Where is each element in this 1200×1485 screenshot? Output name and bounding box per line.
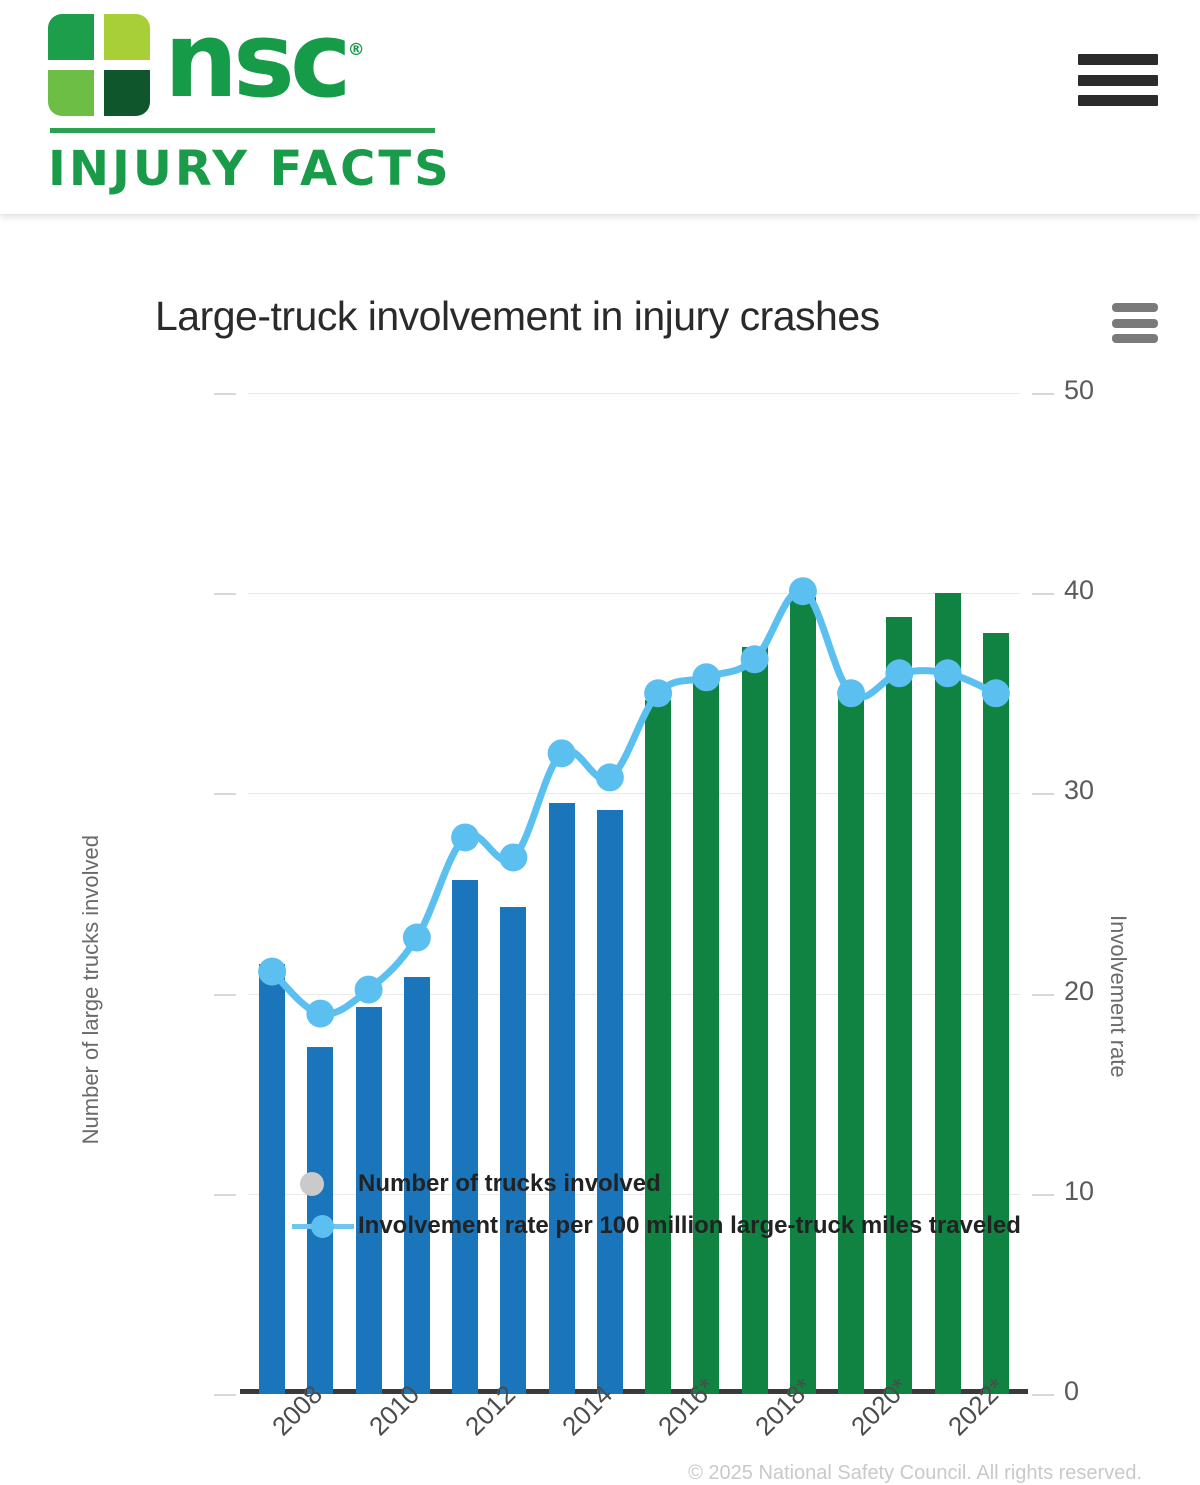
rate-point-2023[interactable]: 2023*: 35 xyxy=(982,679,1010,707)
chart-context-menu-icon[interactable] xyxy=(1112,303,1158,343)
logo-row: nsc® xyxy=(48,8,518,120)
y-axis-right-tick-mark xyxy=(1032,793,1054,795)
rate-point-2014[interactable]: 2014: 32 xyxy=(548,739,576,767)
site-header: nsc® INJURY FACTS xyxy=(0,0,1200,215)
rate-point-2011[interactable]: 2011: 22.8 xyxy=(403,924,431,952)
legend-item-rate[interactable]: Involvement rate per 100 million large-t… xyxy=(292,1205,1021,1247)
rate-point-2012[interactable]: 2012: 27.8 xyxy=(451,823,479,851)
rate-point-2022[interactable]: 2022*: 36 xyxy=(934,659,962,687)
hamburger-bar-1 xyxy=(1078,54,1158,65)
legend-marker-blue-line-icon xyxy=(292,1213,358,1239)
brand-subtitle: INJURY FACTS xyxy=(48,145,518,193)
legend-marker-gray-circle-icon xyxy=(292,1171,358,1197)
logo-square-top-left xyxy=(48,14,94,60)
rate-point-2015[interactable]: 2015: 30.8 xyxy=(596,763,624,791)
y-axis-right-tick: 10 xyxy=(1064,1176,1094,1207)
y-axis-right-tick-mark xyxy=(1032,593,1054,595)
y-axis-left-tick-mark xyxy=(214,994,236,996)
rate-point-2017[interactable]: 2017*: 35.8 xyxy=(692,663,720,691)
rate-point-2008[interactable]: 2008: 21.1 xyxy=(258,958,286,986)
y-axis-right-tick: 30 xyxy=(1064,775,1094,806)
y-axis-left-tick-mark xyxy=(214,793,236,795)
y-axis-left-tick-mark xyxy=(214,593,236,595)
chart-menu-bar-3 xyxy=(1112,334,1158,343)
y-axis-right-tick-mark xyxy=(1032,1194,1054,1196)
chart-title: Large-truck involvement in injury crashe… xyxy=(155,293,880,340)
legend-item-trucks[interactable]: Number of trucks involved xyxy=(292,1163,1021,1205)
brand-divider xyxy=(50,128,435,133)
rate-point-2016[interactable]: 2016*: 35 xyxy=(644,679,672,707)
y-axis-right-tick: 20 xyxy=(1064,976,1094,1007)
legend-label-rate: Involvement rate per 100 million large-t… xyxy=(358,1212,1021,1240)
hamburger-menu-icon[interactable] xyxy=(1078,54,1158,106)
y-axis-right-tick: 40 xyxy=(1064,575,1094,606)
brand-logo[interactable]: nsc® INJURY FACTS xyxy=(48,8,518,193)
copyright-note: © 2025 National Safety Council. All righ… xyxy=(0,1462,1200,1485)
rate-point-2009[interactable]: 2009: 19 xyxy=(306,1000,334,1028)
y-axis-right-tick: 50 xyxy=(1064,375,1094,406)
rate-point-2020[interactable]: 2020*: 35 xyxy=(837,679,865,707)
logo-square-bottom-right xyxy=(104,70,150,116)
rate-point-2021[interactable]: 2021*: 36 xyxy=(885,659,913,687)
nsc-wordmark: nsc® xyxy=(164,8,347,112)
rate-point-2010[interactable]: 2010: 20.2 xyxy=(355,976,383,1004)
y-axis-left-tick-mark xyxy=(214,1194,236,1196)
y-axis-left-label: Number of large trucks involved xyxy=(78,835,104,1144)
chart-menu-bar-2 xyxy=(1112,319,1158,328)
logo-square-top-right xyxy=(104,14,150,60)
nsc-squares-icon xyxy=(48,14,150,112)
chart-menu-bar-1 xyxy=(1112,303,1158,312)
y-axis-left-tick-mark xyxy=(214,1394,236,1396)
legend-label-trucks: Number of trucks involved xyxy=(358,1170,661,1198)
nsc-wordmark-text: nsc xyxy=(164,0,347,121)
rate-point-2018[interactable]: 2018*: 36.7 xyxy=(741,645,769,673)
y-axis-left-tick-mark xyxy=(214,393,236,395)
rate-line-path xyxy=(272,591,996,1014)
hamburger-bar-3 xyxy=(1078,95,1158,106)
y-axis-right-tick-mark xyxy=(1032,1394,1054,1396)
logo-square-bottom-left xyxy=(48,70,94,116)
rate-point-2013[interactable]: 2013: 26.8 xyxy=(499,843,527,871)
hamburger-bar-2 xyxy=(1078,75,1158,86)
registered-mark-icon: ® xyxy=(348,0,365,102)
chart-container: Large-truck involvement in injury crashe… xyxy=(0,215,1200,1481)
rate-point-2019[interactable]: 2019*: 40.1 xyxy=(789,577,817,605)
y-axis-right-tick-mark xyxy=(1032,393,1054,395)
y-axis-right-tick: 0 xyxy=(1064,1376,1079,1407)
chart-legend: Number of trucks involved Involvement ra… xyxy=(292,1163,1021,1247)
y-axis-right-tick-mark xyxy=(1032,994,1054,996)
y-axis-right-label: Involvement rate xyxy=(1105,915,1131,1078)
